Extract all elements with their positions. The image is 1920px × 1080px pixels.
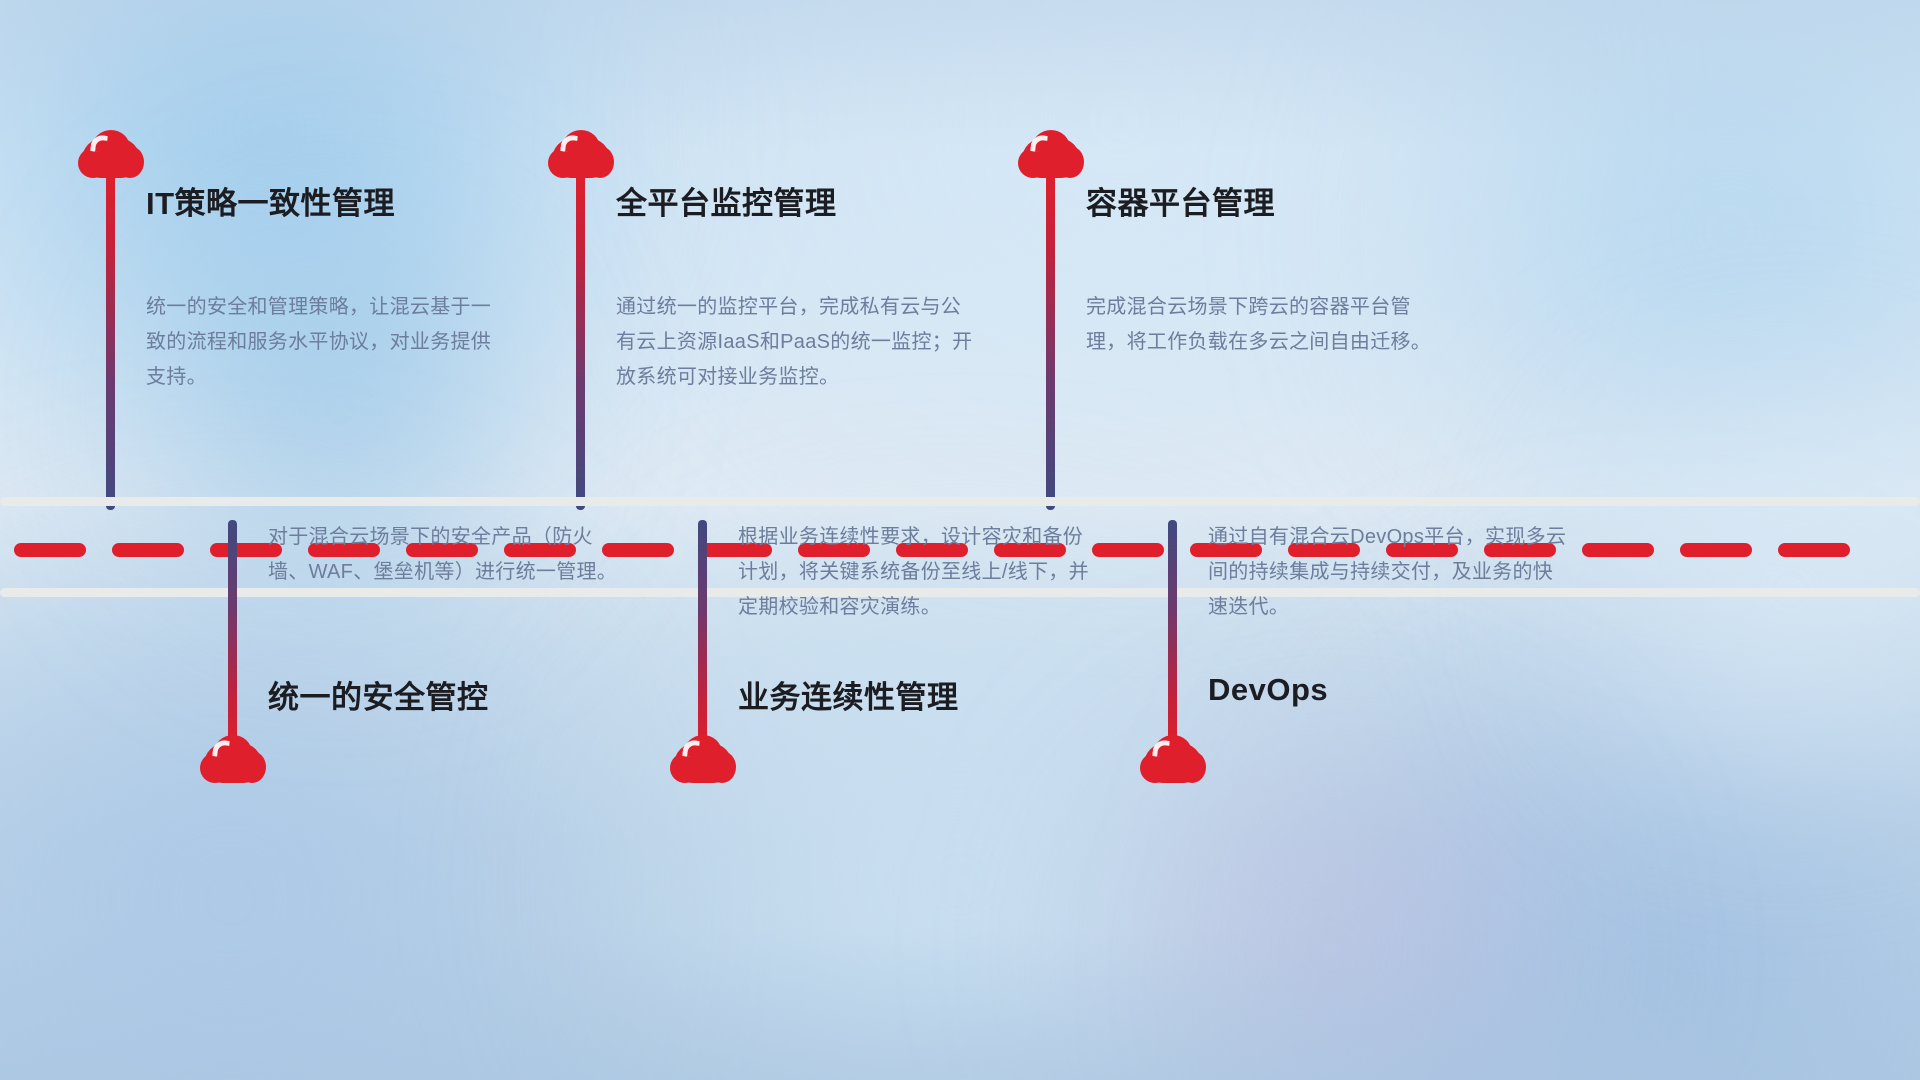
cloud-pin-icon — [78, 130, 144, 178]
feature-description: 对于混合云场景下的安全产品（防火墙、WAF、堡垒机等）进行统一管理。 — [268, 520, 630, 590]
feature-title: IT策略一致性管理 — [146, 178, 395, 223]
divider-dash-segment — [112, 543, 184, 557]
connector-stem — [1046, 172, 1055, 510]
cloud-pin-icon — [670, 735, 736, 783]
feature-description: 统一的安全和管理策略，让混云基于一致的流程和服务水平协议，对业务提供支持。 — [146, 290, 506, 395]
connector-stem — [698, 520, 707, 752]
feature-title: 统一的安全管控 — [268, 672, 489, 717]
divider-dash-segment — [1778, 543, 1850, 557]
feature-description: 根据业务连续性要求，设计容灾和备份计划，将关键系统备份至线上/线下，并定期校验和… — [738, 520, 1100, 625]
divider-rule-top — [0, 497, 1920, 506]
divider-dash-segment — [1680, 543, 1752, 557]
divider-dash-segment — [1092, 543, 1164, 557]
feature-description: 通过统一的监控平台，完成私有云与公有云上资源IaaS和PaaS的统一监控；开放系… — [616, 290, 976, 395]
feature-description: 完成混合云场景下跨云的容器平台管理，将工作负载在多云之间自由迁移。 — [1086, 290, 1446, 360]
connector-stem — [228, 520, 237, 752]
connector-stem — [576, 172, 585, 510]
cloud-pin-icon — [200, 735, 266, 783]
connector-stem — [106, 172, 115, 510]
infographic-stage: IT策略一致性管理 统一的安全和管理策略，让混云基于一致的流程和服务水平协议，对… — [0, 0, 1920, 1080]
cloud-pin-icon — [1140, 735, 1206, 783]
feature-description: 通过自有混合云DevOps平台，实现多云间的持续集成与持续交付，及业务的快速迭代… — [1208, 520, 1570, 625]
feature-title: DevOps — [1208, 672, 1328, 708]
feature-title: 容器平台管理 — [1086, 178, 1275, 223]
feature-title: 业务连续性管理 — [738, 672, 959, 717]
connector-stem — [1168, 520, 1177, 752]
cloud-pin-icon — [1018, 130, 1084, 178]
cloud-pin-icon — [548, 130, 614, 178]
feature-title: 全平台监控管理 — [616, 178, 837, 223]
divider-dash-segment — [14, 543, 86, 557]
divider-dash-segment — [1582, 543, 1654, 557]
